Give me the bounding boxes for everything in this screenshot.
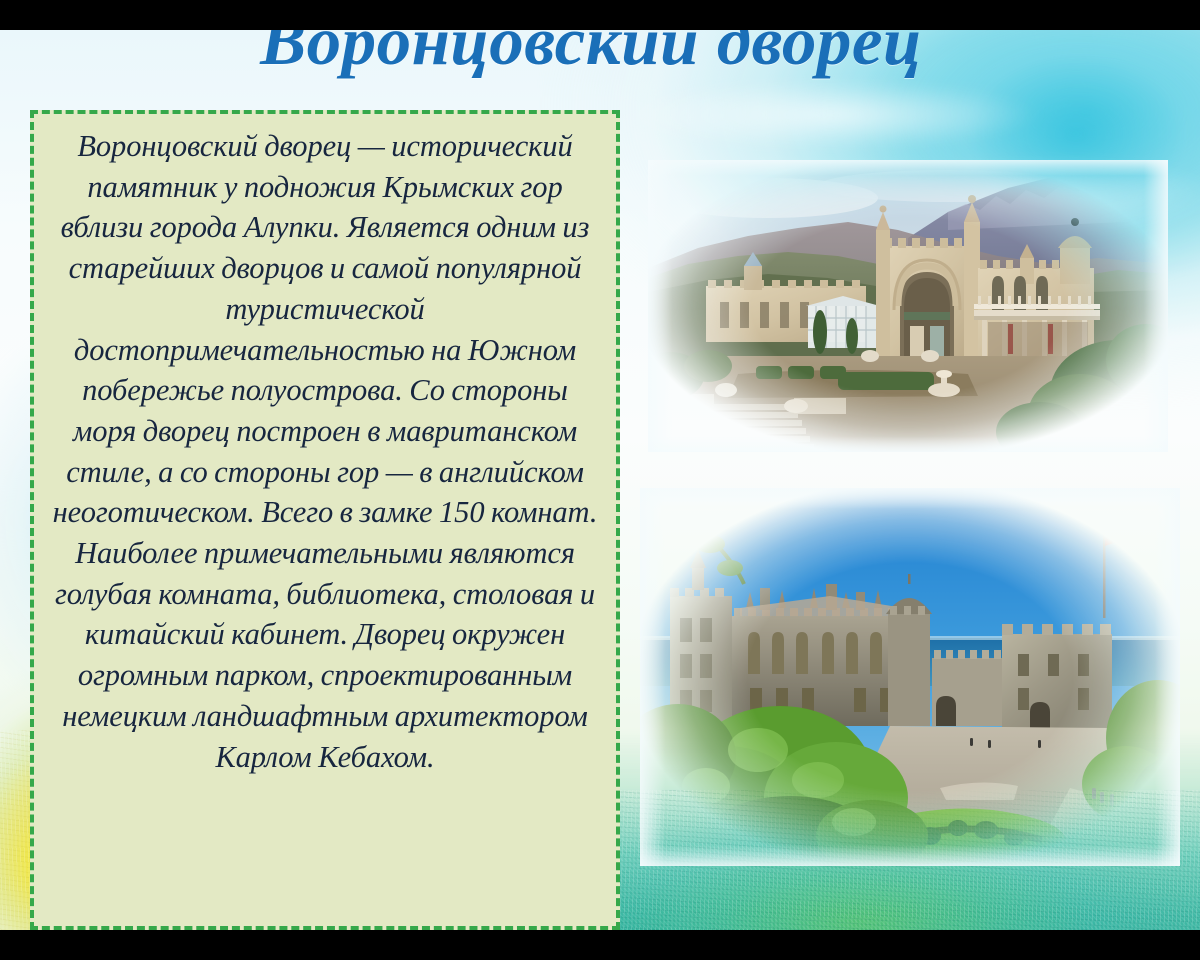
south-facade-illustration bbox=[648, 160, 1168, 452]
letterbox-bar-top bbox=[0, 0, 1200, 30]
photo-north-facade-image bbox=[640, 488, 1180, 866]
description-text: Воронцовский дворец — исторический памят… bbox=[48, 126, 602, 777]
slide: Воронцовский дворец Воронцовский дворец … bbox=[0, 0, 1200, 960]
letterbox-bar-bottom bbox=[0, 930, 1200, 960]
photo-south-facade-image bbox=[648, 160, 1168, 452]
north-facade-illustration bbox=[640, 488, 1180, 866]
photo-palace-south-facade bbox=[648, 160, 1168, 452]
photo-palace-north-facade bbox=[640, 488, 1180, 866]
cloud-streak-upper bbox=[620, 70, 1040, 160]
description-panel: Воронцовский дворец — исторический памят… bbox=[30, 110, 620, 930]
